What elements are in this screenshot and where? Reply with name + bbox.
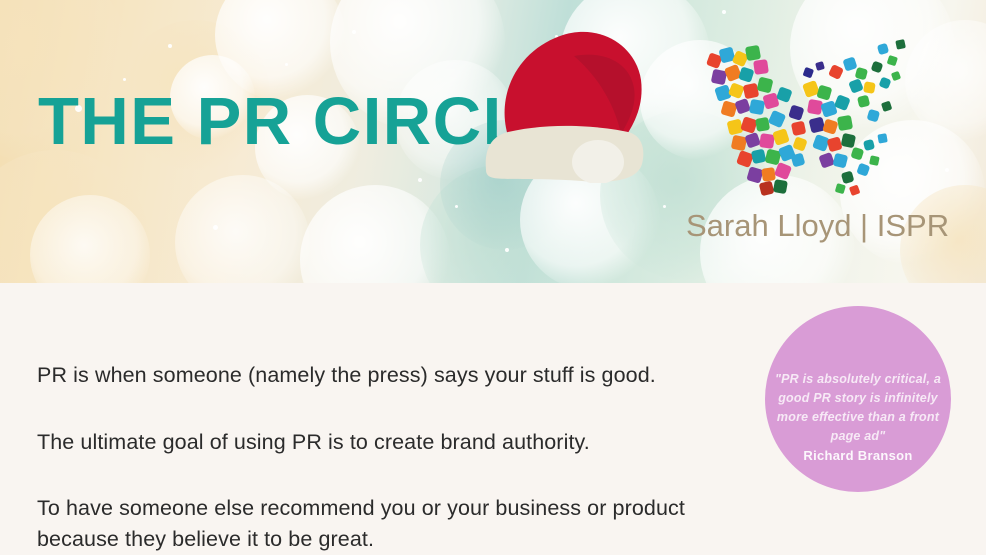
slide-root: THE PR CIRCLE — [0, 0, 986, 555]
sparkle-dot — [213, 225, 218, 230]
sparkle-dot — [945, 168, 949, 172]
sparkle-dot — [352, 30, 356, 34]
bokeh-blob — [30, 195, 150, 283]
butterfly-logo-icon — [692, 22, 932, 210]
sparkle-dot — [505, 248, 509, 252]
brand-signature: Sarah Lloyd | ISPR — [686, 209, 949, 243]
body-content: PR is when someone (namely the press) sa… — [37, 300, 777, 554]
bokeh-blob — [175, 175, 310, 283]
sparkle-dot — [418, 178, 422, 182]
body-paragraph-2: The ultimate goal of using PR is to crea… — [37, 427, 777, 458]
sparkle-dot — [123, 78, 126, 81]
santa-hat-icon — [478, 18, 663, 183]
sparkle-dot — [168, 44, 172, 48]
bokeh-blob — [300, 185, 450, 283]
bokeh-blob — [0, 150, 150, 283]
body-paragraph-3: To have someone else recommend you or yo… — [37, 493, 772, 554]
sparkle-dot — [663, 205, 666, 208]
quote-badge: "PR is absolutely critical, a good PR st… — [765, 306, 951, 492]
body-paragraph-1: PR is when someone (namely the press) sa… — [37, 360, 777, 391]
sparkle-dot — [455, 205, 458, 208]
header-banner: THE PR CIRCLE — [0, 0, 986, 283]
sparkle-dot — [285, 63, 288, 66]
quote-text: "PR is absolutely critical, a good PR st… — [775, 334, 941, 446]
quote-author: Richard Branson — [803, 448, 912, 465]
sparkle-dot — [722, 10, 726, 14]
